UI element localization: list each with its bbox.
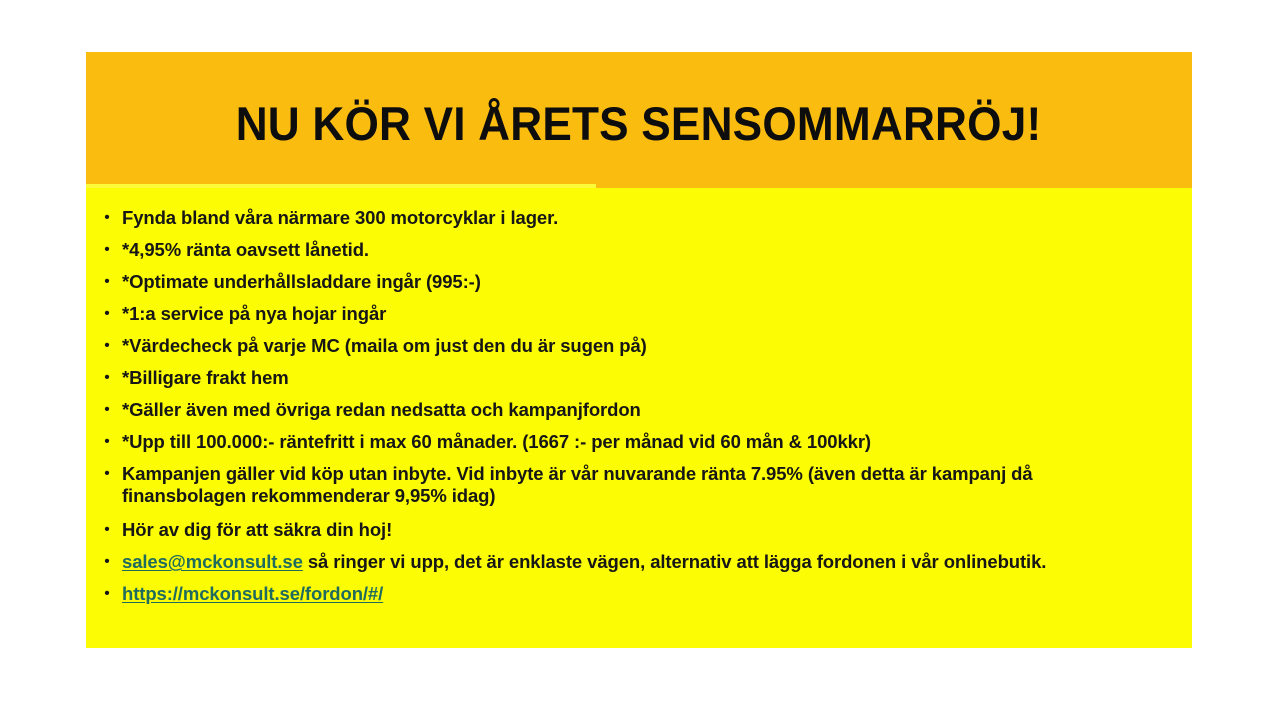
list-item-text: *1:a service på nya hojar ingår (122, 303, 386, 324)
bullet-icon: • (102, 202, 112, 234)
list-item-text: *Optimate underhållsladdare ingår (995:-… (122, 271, 481, 292)
list-item-text: *Upp till 100.000:- räntefritt i max 60 … (122, 431, 871, 452)
page-title: NU KÖR VI ÅRETS SENSOMMARRÖJ! (236, 100, 1042, 147)
bullet-icon: • (102, 463, 112, 485)
bullet-icon: • (102, 426, 112, 458)
list-item-call-to-action: • Hör av dig för att säkra din hoj! (86, 514, 1192, 546)
list-item-value-check: • *Värdecheck på varje MC (maila om just… (86, 330, 1192, 362)
list-item-interest-rate: • *4,95% ränta oavsett lånetid. (86, 234, 1192, 266)
website-link[interactable]: https://mckonsult.se/fordon/#/ (122, 583, 383, 604)
email-trailing-text: så ringer vi upp, det är enklaste vägen,… (303, 551, 1047, 572)
list-item-interest-free: • *Upp till 100.000:- räntefritt i max 6… (86, 426, 1192, 458)
bullet-icon: • (102, 330, 112, 362)
list-item-optimate-charger: • *Optimate underhållsladdare ingår (995… (86, 266, 1192, 298)
bullet-icon: • (102, 578, 112, 610)
bullet-icon: • (102, 394, 112, 426)
list-item-text: Kampanjen gäller vid köp utan inbyte. Vi… (122, 463, 1033, 506)
title-banner: NU KÖR VI ÅRETS SENSOMMARRÖJ! (86, 52, 1192, 188)
list-item-text: *4,95% ränta oavsett lånetid. (122, 239, 369, 260)
list-item-stock: • Fynda bland våra närmare 300 motorcykl… (86, 202, 1192, 234)
list-item-text: Fynda bland våra närmare 300 motorcyklar… (122, 207, 558, 228)
bullet-list: • Fynda bland våra närmare 300 motorcykl… (86, 188, 1192, 610)
list-item-campaign-vehicles: • *Gäller även med övriga redan nedsatta… (86, 394, 1192, 426)
bullet-icon: • (102, 362, 112, 394)
bullet-icon: • (102, 546, 112, 578)
list-item-cheaper-shipping: • *Billigare frakt hem (86, 362, 1192, 394)
list-item-first-service: • *1:a service på nya hojar ingår (86, 298, 1192, 330)
bullet-icon: • (102, 514, 112, 546)
slide-canvas: NU KÖR VI ÅRETS SENSOMMARRÖJ! • Fynda bl… (0, 0, 1280, 720)
list-item-trade-in-terms: • Kampanjen gäller vid köp utan inbyte. … (86, 458, 1042, 512)
bullet-icon: • (102, 298, 112, 330)
bullet-icon: • (102, 234, 112, 266)
list-item-website: • https://mckonsult.se/fordon/#/ (86, 578, 1192, 610)
body-block: • Fynda bland våra närmare 300 motorcykl… (86, 188, 1192, 648)
list-item-text: *Gäller även med övriga redan nedsatta o… (122, 399, 641, 420)
list-item-text: Hör av dig för att säkra din hoj! (122, 519, 392, 540)
list-item-text: *Billigare frakt hem (122, 367, 289, 388)
list-item-text: *Värdecheck på varje MC (maila om just d… (122, 335, 647, 356)
list-item-email: • sales@mckonsult.se så ringer vi upp, d… (86, 546, 1192, 578)
email-link[interactable]: sales@mckonsult.se (122, 551, 303, 572)
bullet-icon: • (102, 266, 112, 298)
